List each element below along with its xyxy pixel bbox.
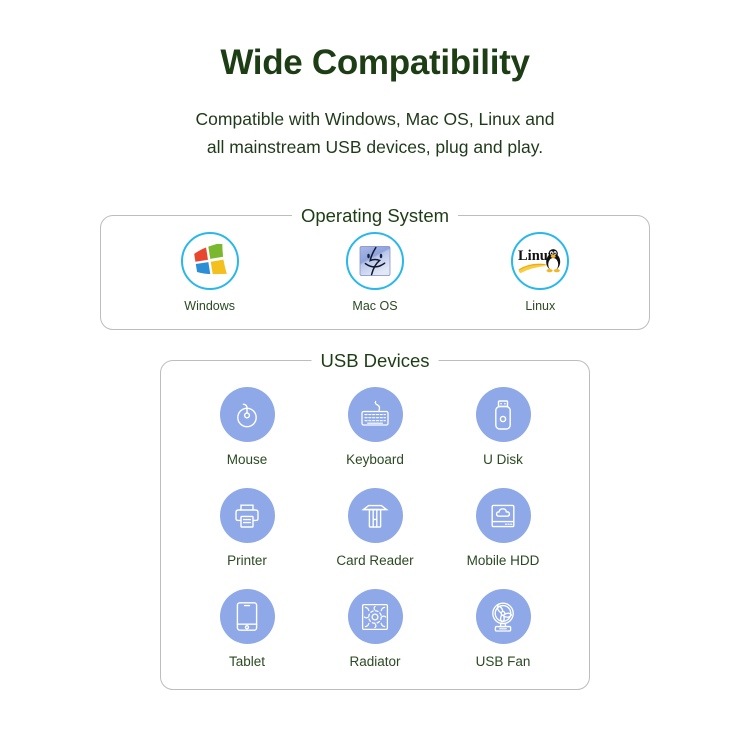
usb-item-label: Tablet — [229, 654, 265, 670]
external-hard-drive-icon — [488, 501, 518, 531]
usb-item-printer: Printer — [183, 488, 311, 569]
usb-item-tablet: Tablet — [183, 589, 311, 670]
usb-item-mobile-hdd: Mobile HDD — [439, 488, 567, 569]
usb-icon-circle — [220, 488, 275, 543]
usb-item-udisk: U Disk — [439, 387, 567, 468]
usb-item-label: Printer — [227, 553, 267, 569]
keyboard-icon — [359, 400, 391, 430]
os-item-label: Linux — [525, 299, 555, 314]
compatibility-infographic: Wide Compatibility Compatible with Windo… — [0, 0, 750, 750]
usb-icon-circle — [220, 589, 275, 644]
linux-tux-logo-icon: Linux — [517, 244, 563, 278]
usb-devices-grid: Mouse — [161, 387, 589, 671]
usb-devices-panel: USB Devices Mouse — [160, 360, 590, 690]
usb-item-usb-fan: USB Fan — [439, 589, 567, 670]
usb-icon-circle — [220, 387, 275, 442]
card-reader-icon — [360, 501, 390, 531]
printer-icon — [232, 501, 262, 531]
usb-icon-circle — [476, 488, 531, 543]
operating-system-panel: Operating System — [100, 215, 650, 330]
usb-item-label: Keyboard — [346, 452, 404, 468]
page-subtitle: Compatible with Windows, Mac OS, Linux a… — [160, 105, 590, 162]
os-item-label: Mac OS — [352, 299, 397, 314]
header: Wide Compatibility Compatible with Windo… — [0, 0, 750, 161]
subtitle-line-2: all mainstream USB devices, plug and pla… — [160, 133, 590, 161]
os-icon-ring — [181, 232, 239, 290]
os-icon-ring: Linux — [511, 232, 569, 290]
usb-icon-circle — [476, 589, 531, 644]
usb-desk-fan-icon — [488, 601, 518, 633]
os-item-windows: Windows — [150, 232, 270, 314]
os-item-linux: Linux — [480, 232, 600, 314]
usb-icon-circle — [348, 589, 403, 644]
usb-flash-drive-icon — [492, 399, 514, 431]
usb-item-label: U Disk — [483, 452, 523, 468]
usb-item-card-reader: Card Reader — [311, 488, 439, 569]
usb-item-radiator: Radiator — [311, 589, 439, 670]
usb-item-mouse: Mouse — [183, 387, 311, 468]
operating-system-list: Windows — [101, 216, 649, 329]
usb-item-label: Mouse — [227, 452, 268, 468]
usb-icon-circle — [348, 387, 403, 442]
usb-devices-legend: USB Devices — [312, 349, 439, 373]
usb-item-label: Radiator — [349, 654, 400, 670]
usb-item-label: Mobile HDD — [467, 553, 540, 569]
os-item-macos: Mac OS — [315, 232, 435, 314]
mac-finder-face-icon — [358, 245, 392, 277]
mouse-icon — [232, 400, 262, 430]
usb-item-keyboard: Keyboard — [311, 387, 439, 468]
subtitle-line-1: Compatible with Windows, Mac OS, Linux a… — [160, 105, 590, 133]
os-item-label: Windows — [184, 299, 235, 314]
usb-icon-circle — [348, 488, 403, 543]
usb-icon-circle — [476, 387, 531, 442]
usb-item-label: USB Fan — [476, 654, 531, 670]
radiator-fan-grille-icon — [360, 602, 390, 632]
page-title: Wide Compatibility — [0, 44, 750, 83]
windows-logo-icon — [192, 244, 228, 278]
usb-item-label: Card Reader — [336, 553, 413, 569]
os-icon-ring — [346, 232, 404, 290]
tablet-icon — [235, 601, 259, 632]
